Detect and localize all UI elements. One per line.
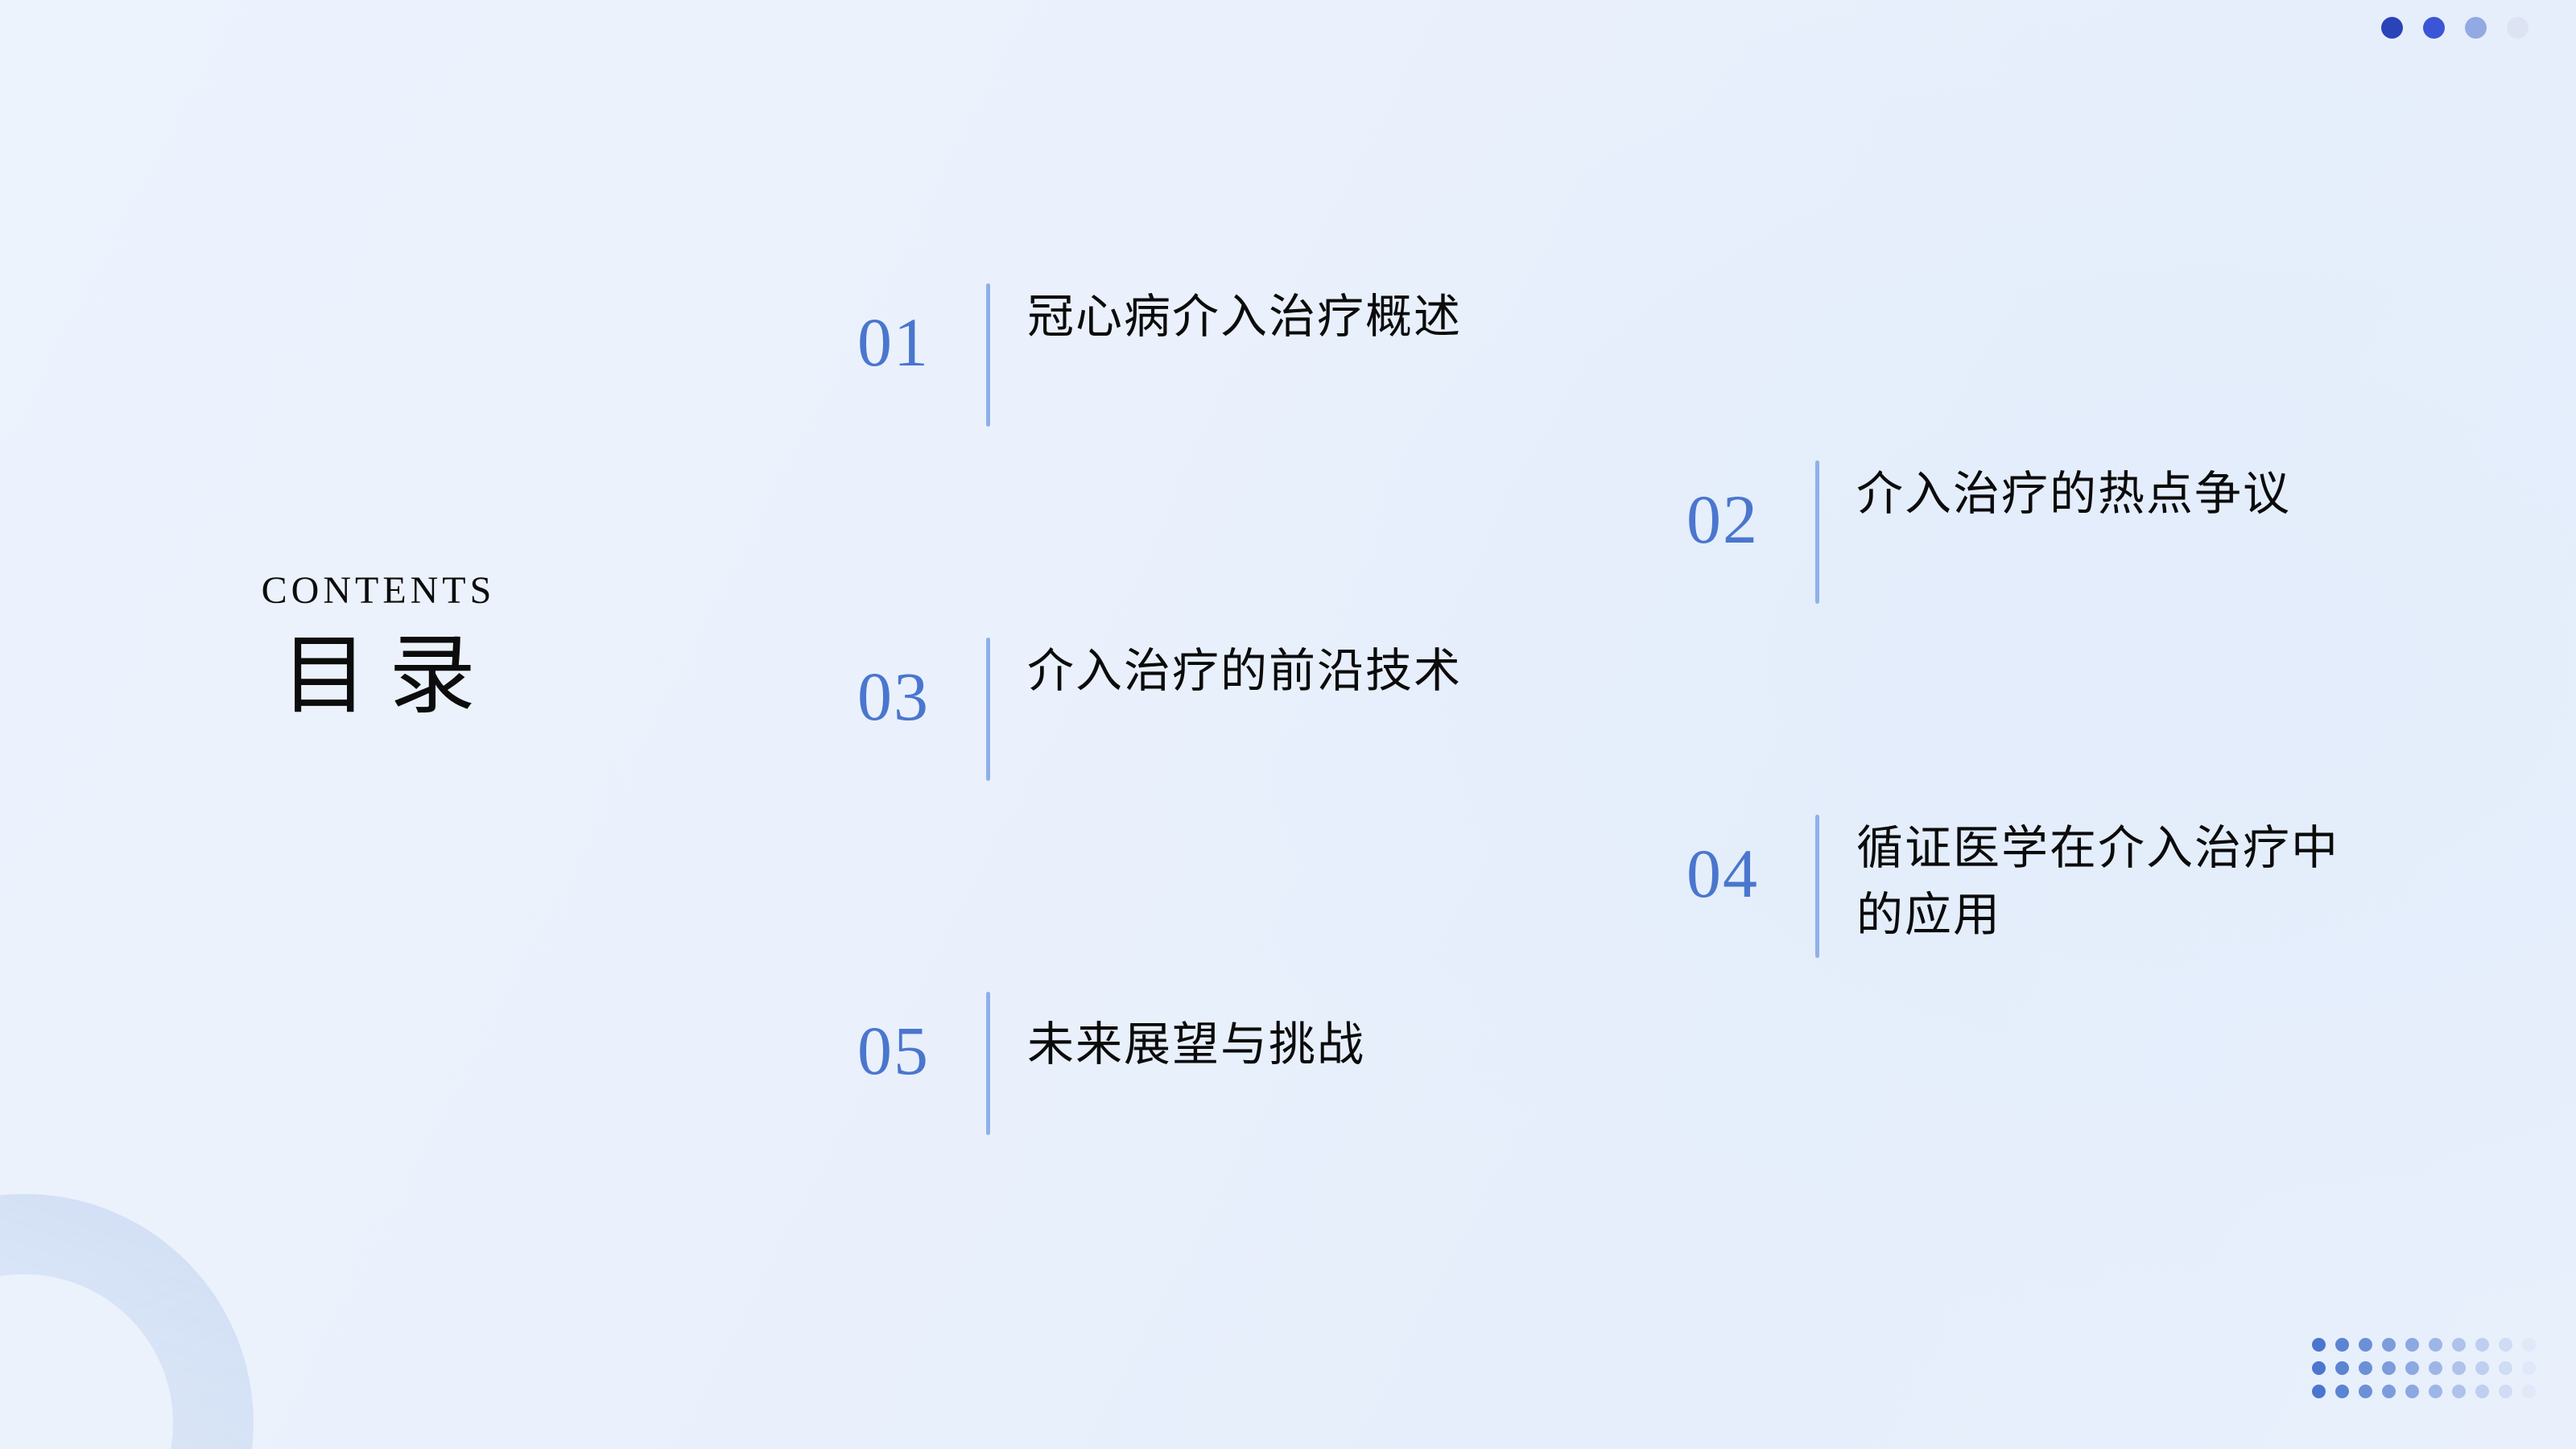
- grid-dot: [2382, 1385, 2396, 1398]
- grid-dot: [2429, 1338, 2442, 1352]
- top-right-dots-decoration: [2381, 17, 2529, 39]
- agenda-title-04: 循证医学在介入治疗中的应用: [1856, 815, 2355, 948]
- grid-dot: [2382, 1361, 2396, 1375]
- grid-dot: [2522, 1385, 2536, 1398]
- agenda-divider-03: [986, 638, 990, 781]
- dot-indicator-1: [2381, 17, 2403, 39]
- agenda-divider-04: [1815, 815, 1819, 958]
- grid-dot: [2452, 1385, 2466, 1398]
- agenda-number-01: 01: [857, 283, 978, 377]
- agenda-item-02[interactable]: 02 介入治疗的热点争议: [1686, 460, 2291, 604]
- grid-dot: [2475, 1385, 2489, 1398]
- grid-dot: [2312, 1361, 2326, 1375]
- grid-dot: [2335, 1361, 2349, 1375]
- agenda-divider-01: [986, 283, 990, 427]
- dot-indicator-3: [2465, 17, 2487, 39]
- contents-heading-chinese: 目录: [177, 628, 580, 725]
- grid-dot: [2475, 1338, 2489, 1352]
- agenda-title-01: 冠心病介入治疗概述: [1027, 283, 1462, 350]
- grid-dot: [2452, 1361, 2466, 1375]
- slide-canvas: CONTENTS 目录 01 冠心病介入治疗概述 02 介入治疗的热点争议 03…: [0, 0, 2576, 1449]
- grid-dot: [2405, 1338, 2419, 1352]
- grid-dot: [2312, 1385, 2326, 1398]
- grid-dot: [2405, 1385, 2419, 1398]
- agenda-number-04: 04: [1686, 815, 1807, 908]
- agenda-number-02: 02: [1686, 460, 1807, 554]
- grid-dot: [2359, 1338, 2372, 1352]
- dot-indicator-2: [2423, 17, 2445, 39]
- grid-dot: [2335, 1385, 2349, 1398]
- agenda-item-01[interactable]: 01 冠心病介入治疗概述: [857, 283, 1462, 427]
- grid-dot: [2359, 1385, 2372, 1398]
- agenda-title-03: 介入治疗的前沿技术: [1027, 638, 1462, 704]
- grid-dot: [2452, 1338, 2466, 1352]
- agenda-item-05[interactable]: 05 未来展望与挑战: [857, 992, 1365, 1135]
- grid-dot: [2499, 1385, 2512, 1398]
- grid-dot: [2359, 1361, 2372, 1375]
- agenda-number-05: 05: [857, 992, 978, 1085]
- dot-indicator-4: [2507, 17, 2529, 39]
- agenda-divider-05: [986, 992, 990, 1135]
- grid-dot: [2335, 1338, 2349, 1352]
- agenda-title-05: 未来展望与挑战: [1027, 992, 1365, 1078]
- grid-dot: [2429, 1385, 2442, 1398]
- grid-dot: [2312, 1338, 2326, 1352]
- contents-heading-english: CONTENTS: [177, 572, 580, 610]
- grid-dot: [2429, 1361, 2442, 1375]
- corner-ring-decoration-secondary: [0, 1194, 254, 1449]
- grid-dot: [2522, 1361, 2536, 1375]
- grid-dot: [2405, 1361, 2419, 1375]
- grid-dot: [2475, 1361, 2489, 1375]
- agenda-title-02: 介入治疗的热点争议: [1856, 460, 2291, 527]
- contents-heading-block: CONTENTS 目录: [177, 572, 580, 725]
- grid-dot: [2499, 1338, 2512, 1352]
- bottom-right-dot-grid-decoration: [2312, 1338, 2545, 1408]
- agenda-number-03: 03: [857, 638, 978, 731]
- grid-dot: [2382, 1338, 2396, 1352]
- agenda-item-03[interactable]: 03 介入治疗的前沿技术: [857, 638, 1462, 781]
- grid-dot: [2522, 1338, 2536, 1352]
- agenda-divider-02: [1815, 460, 1819, 604]
- grid-dot: [2499, 1361, 2512, 1375]
- agenda-item-04[interactable]: 04 循证医学在介入治疗中的应用: [1686, 815, 2355, 958]
